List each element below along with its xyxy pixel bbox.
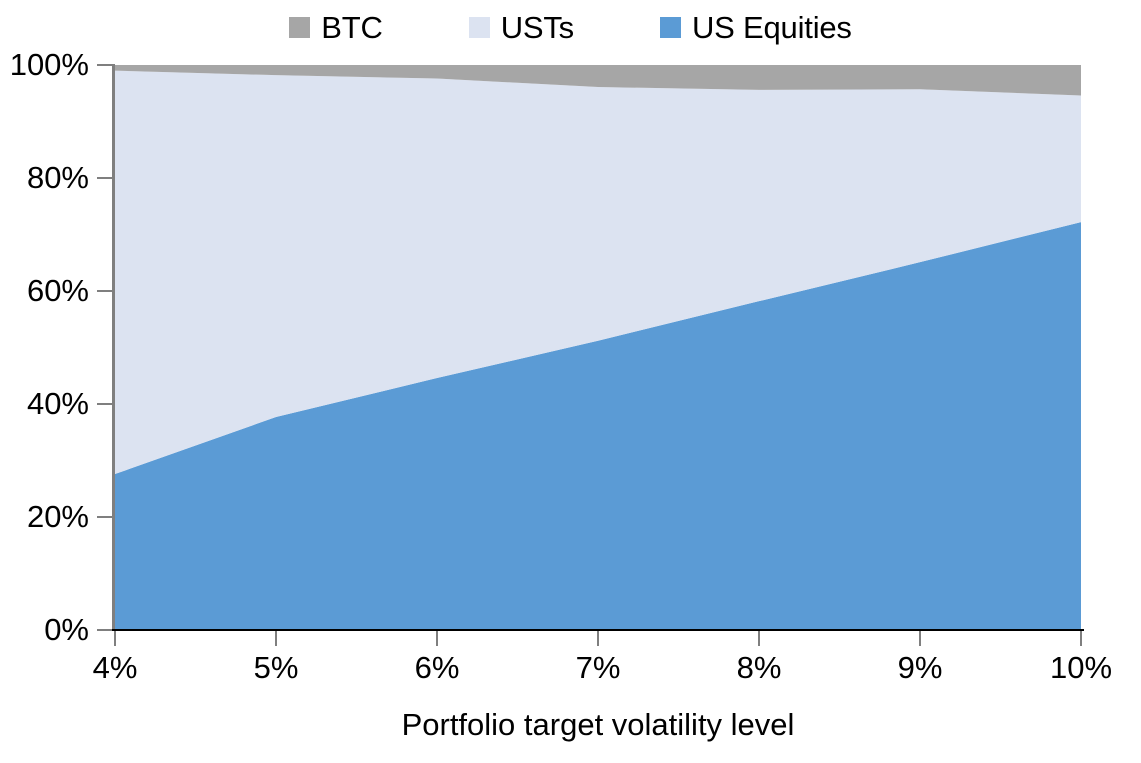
legend-swatch-usts xyxy=(469,17,490,38)
y-tick-mark xyxy=(97,516,112,518)
legend-label-usts: USTs xyxy=(501,12,574,43)
x-tick-label: 6% xyxy=(415,652,460,683)
x-tick-mark xyxy=(1080,631,1082,646)
y-tick-label: 80% xyxy=(27,162,89,193)
y-tick-mark xyxy=(97,64,112,66)
y-tick-label: 100% xyxy=(10,49,89,80)
x-tick-label: 5% xyxy=(254,652,299,683)
legend-swatch-btc xyxy=(289,17,310,38)
x-axis-title: Portfolio target volatility level xyxy=(115,708,1081,742)
legend-item-usts[interactable]: USTs xyxy=(469,12,574,43)
y-tick-label: 20% xyxy=(27,501,89,532)
x-tick-mark xyxy=(436,631,438,646)
y-axis-line xyxy=(112,64,115,631)
x-tick-mark xyxy=(919,631,921,646)
y-tick-label: 40% xyxy=(27,388,89,419)
x-tick-label: 8% xyxy=(737,652,782,683)
legend-label-btc: BTC xyxy=(321,12,382,43)
series-canvas xyxy=(115,65,1081,630)
legend-item-us-equities[interactable]: US Equities xyxy=(660,12,852,43)
legend-item-btc[interactable]: BTC xyxy=(289,12,382,43)
y-tick-label: 0% xyxy=(44,614,89,645)
x-tick-label: 9% xyxy=(898,652,943,683)
x-tick-mark xyxy=(114,631,116,646)
x-tick-mark xyxy=(275,631,277,646)
x-tick-mark xyxy=(597,631,599,646)
y-tick-mark xyxy=(97,177,112,179)
chart-legend: BTC USTs US Equities xyxy=(0,8,1141,46)
x-tick-mark xyxy=(758,631,760,646)
y-tick-mark xyxy=(97,403,112,405)
legend-swatch-us-equities xyxy=(660,17,681,38)
y-tick-label: 60% xyxy=(27,275,89,306)
stacked-area-chart: BTC USTs US Equities 100%80%60%40%20%0% … xyxy=(0,0,1141,763)
legend-label-us-equities: US Equities xyxy=(692,12,852,43)
y-tick-mark xyxy=(97,629,112,631)
y-tick-mark xyxy=(97,290,112,292)
x-tick-label: 4% xyxy=(93,652,138,683)
x-tick-label: 7% xyxy=(576,652,621,683)
x-tick-label: 10% xyxy=(1050,652,1112,683)
plot-area xyxy=(115,65,1081,630)
